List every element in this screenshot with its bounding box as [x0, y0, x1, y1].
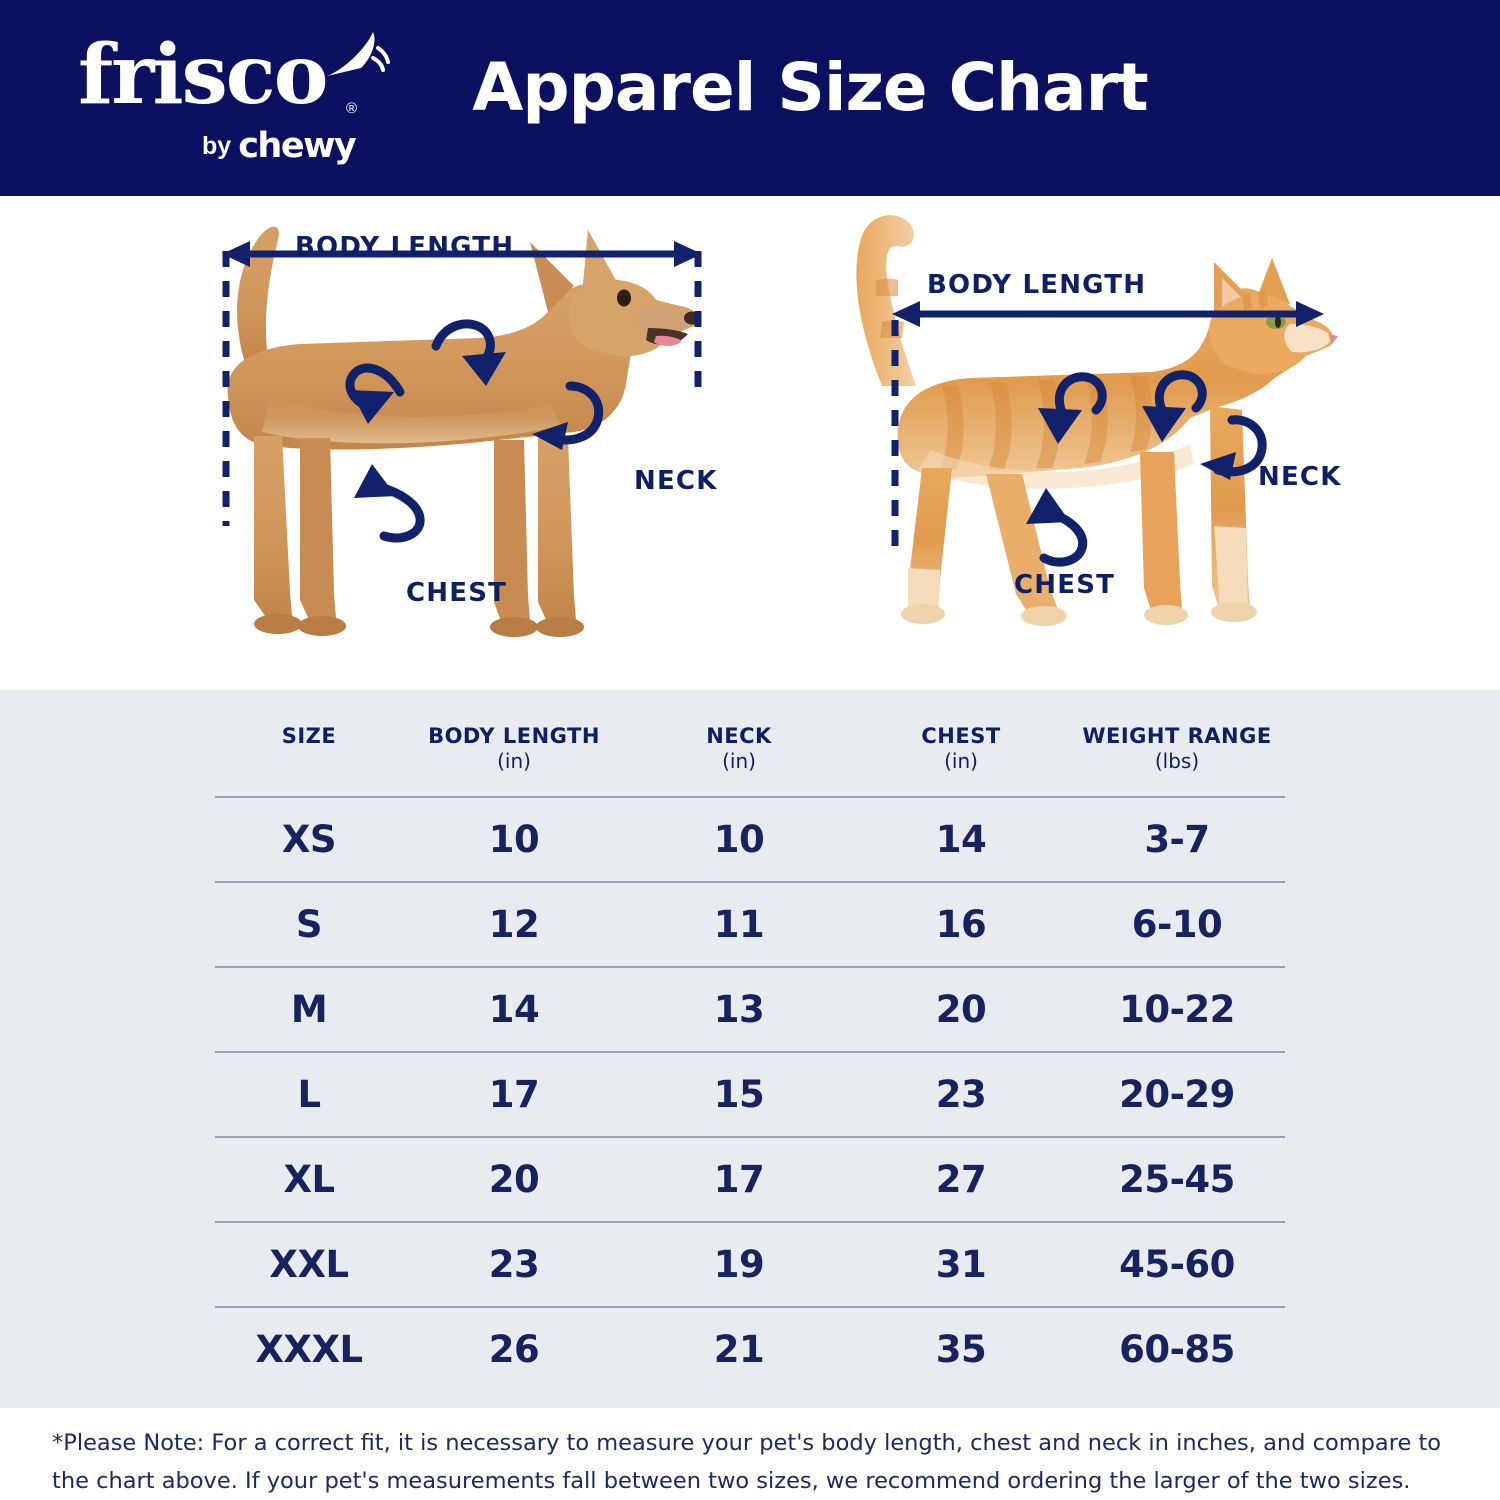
logo-by-text: by: [202, 132, 231, 161]
table-row: M 14 13 20 10-22: [215, 967, 1285, 1052]
page-title: Apparel Size Chart: [0, 52, 1500, 124]
cell-neck: 15: [625, 1052, 853, 1137]
cell-body-length: 10: [403, 797, 625, 882]
page-header: frisco ® by chewy Apparel Size Chart: [0, 0, 1500, 196]
cell-chest: 31: [853, 1222, 1069, 1307]
dog-neck-label: NECK: [634, 466, 718, 496]
table-header: SIZE BODY LENGTH (in) NECK (in) CHEST (i…: [215, 710, 1285, 797]
table-row: XL 20 17 27 25-45: [215, 1137, 1285, 1222]
cell-weight-range: 10-22: [1069, 967, 1285, 1052]
cell-chest: 35: [853, 1307, 1069, 1391]
table-row: XXL 23 19 31 45-60: [215, 1222, 1285, 1307]
column-header-size-label: SIZE: [282, 724, 337, 748]
cell-body-length: 20: [403, 1137, 625, 1222]
column-header-size: SIZE: [215, 710, 403, 797]
cell-weight-range: 60-85: [1069, 1307, 1285, 1391]
cat-chest-label: CHEST: [1014, 570, 1115, 600]
cell-neck: 21: [625, 1307, 853, 1391]
column-header-neck-unit: (in): [625, 749, 853, 774]
footnote-text: *Please Note: For a correct fit, it is n…: [52, 1424, 1452, 1500]
column-header-body-length-unit: (in): [403, 749, 625, 774]
column-header-chest-unit: (in): [853, 749, 1069, 774]
dog-body-length-label: BODY LENGTH: [295, 232, 514, 262]
cell-neck: 13: [625, 967, 853, 1052]
table-row: S 12 11 16 6-10: [215, 882, 1285, 967]
cell-neck: 19: [625, 1222, 853, 1307]
size-table-section: SIZE BODY LENGTH (in) NECK (in) CHEST (i…: [0, 690, 1500, 1408]
cell-neck: 11: [625, 882, 853, 967]
cell-size: XXXL: [215, 1307, 403, 1391]
measurement-illustrations: BODY LENGTH NECK CHEST: [0, 196, 1500, 690]
cell-body-length: 17: [403, 1052, 625, 1137]
cell-body-length: 12: [403, 882, 625, 967]
cell-size: L: [215, 1052, 403, 1137]
cell-size: XXL: [215, 1222, 403, 1307]
cell-chest: 20: [853, 967, 1069, 1052]
cell-weight-range: 25-45: [1069, 1137, 1285, 1222]
logo-subline: by chewy: [202, 126, 355, 166]
cell-neck: 10: [625, 797, 853, 882]
column-header-neck-label: NECK: [706, 724, 772, 748]
cell-weight-range: 45-60: [1069, 1222, 1285, 1307]
cell-weight-range: 6-10: [1069, 882, 1285, 967]
cell-chest: 27: [853, 1137, 1069, 1222]
dog-illustration-svg: [150, 196, 770, 690]
cat-neck-label: NECK: [1258, 462, 1342, 492]
column-header-neck: NECK (in): [625, 710, 853, 797]
dog-diagram: BODY LENGTH NECK CHEST: [150, 196, 770, 690]
table-row: L 17 15 23 20-29: [215, 1052, 1285, 1137]
cell-weight-range: 3-7: [1069, 797, 1285, 882]
column-header-weight-range: WEIGHT RANGE (lbs): [1069, 710, 1285, 797]
column-header-weight-range-unit: (lbs): [1069, 749, 1285, 774]
cell-body-length: 14: [403, 967, 625, 1052]
cell-body-length: 23: [403, 1222, 625, 1307]
table-row: XS 10 10 14 3-7: [215, 797, 1285, 882]
cat-body-length-label: BODY LENGTH: [927, 270, 1146, 300]
table-row: XXXL 26 21 35 60-85: [215, 1307, 1285, 1391]
cell-size: M: [215, 967, 403, 1052]
dog-chest-label: CHEST: [406, 578, 507, 608]
cat-diagram: BODY LENGTH NECK CHEST: [790, 196, 1390, 690]
table-body: XS 10 10 14 3-7 S 12 11 16 6-10 M 14 13: [215, 797, 1285, 1391]
chewy-wordmark: chewy: [238, 126, 355, 166]
cell-body-length: 26: [403, 1307, 625, 1391]
cell-size: XS: [215, 797, 403, 882]
column-header-body-length: BODY LENGTH (in): [403, 710, 625, 797]
cell-size: XL: [215, 1137, 403, 1222]
table-header-row: SIZE BODY LENGTH (in) NECK (in) CHEST (i…: [215, 710, 1285, 797]
cell-chest: 16: [853, 882, 1069, 967]
cell-chest: 14: [853, 797, 1069, 882]
size-chart-page: frisco ® by chewy Apparel Size Chart: [0, 0, 1500, 1500]
apparel-size-table: SIZE BODY LENGTH (in) NECK (in) CHEST (i…: [215, 710, 1285, 1391]
column-header-chest: CHEST (in): [853, 710, 1069, 797]
column-header-body-length-label: BODY LENGTH: [428, 724, 600, 748]
column-header-chest-label: CHEST: [921, 724, 1000, 748]
cell-weight-range: 20-29: [1069, 1052, 1285, 1137]
column-header-weight-range-label: WEIGHT RANGE: [1082, 724, 1271, 748]
cell-size: S: [215, 882, 403, 967]
cell-chest: 23: [853, 1052, 1069, 1137]
cell-neck: 17: [625, 1137, 853, 1222]
